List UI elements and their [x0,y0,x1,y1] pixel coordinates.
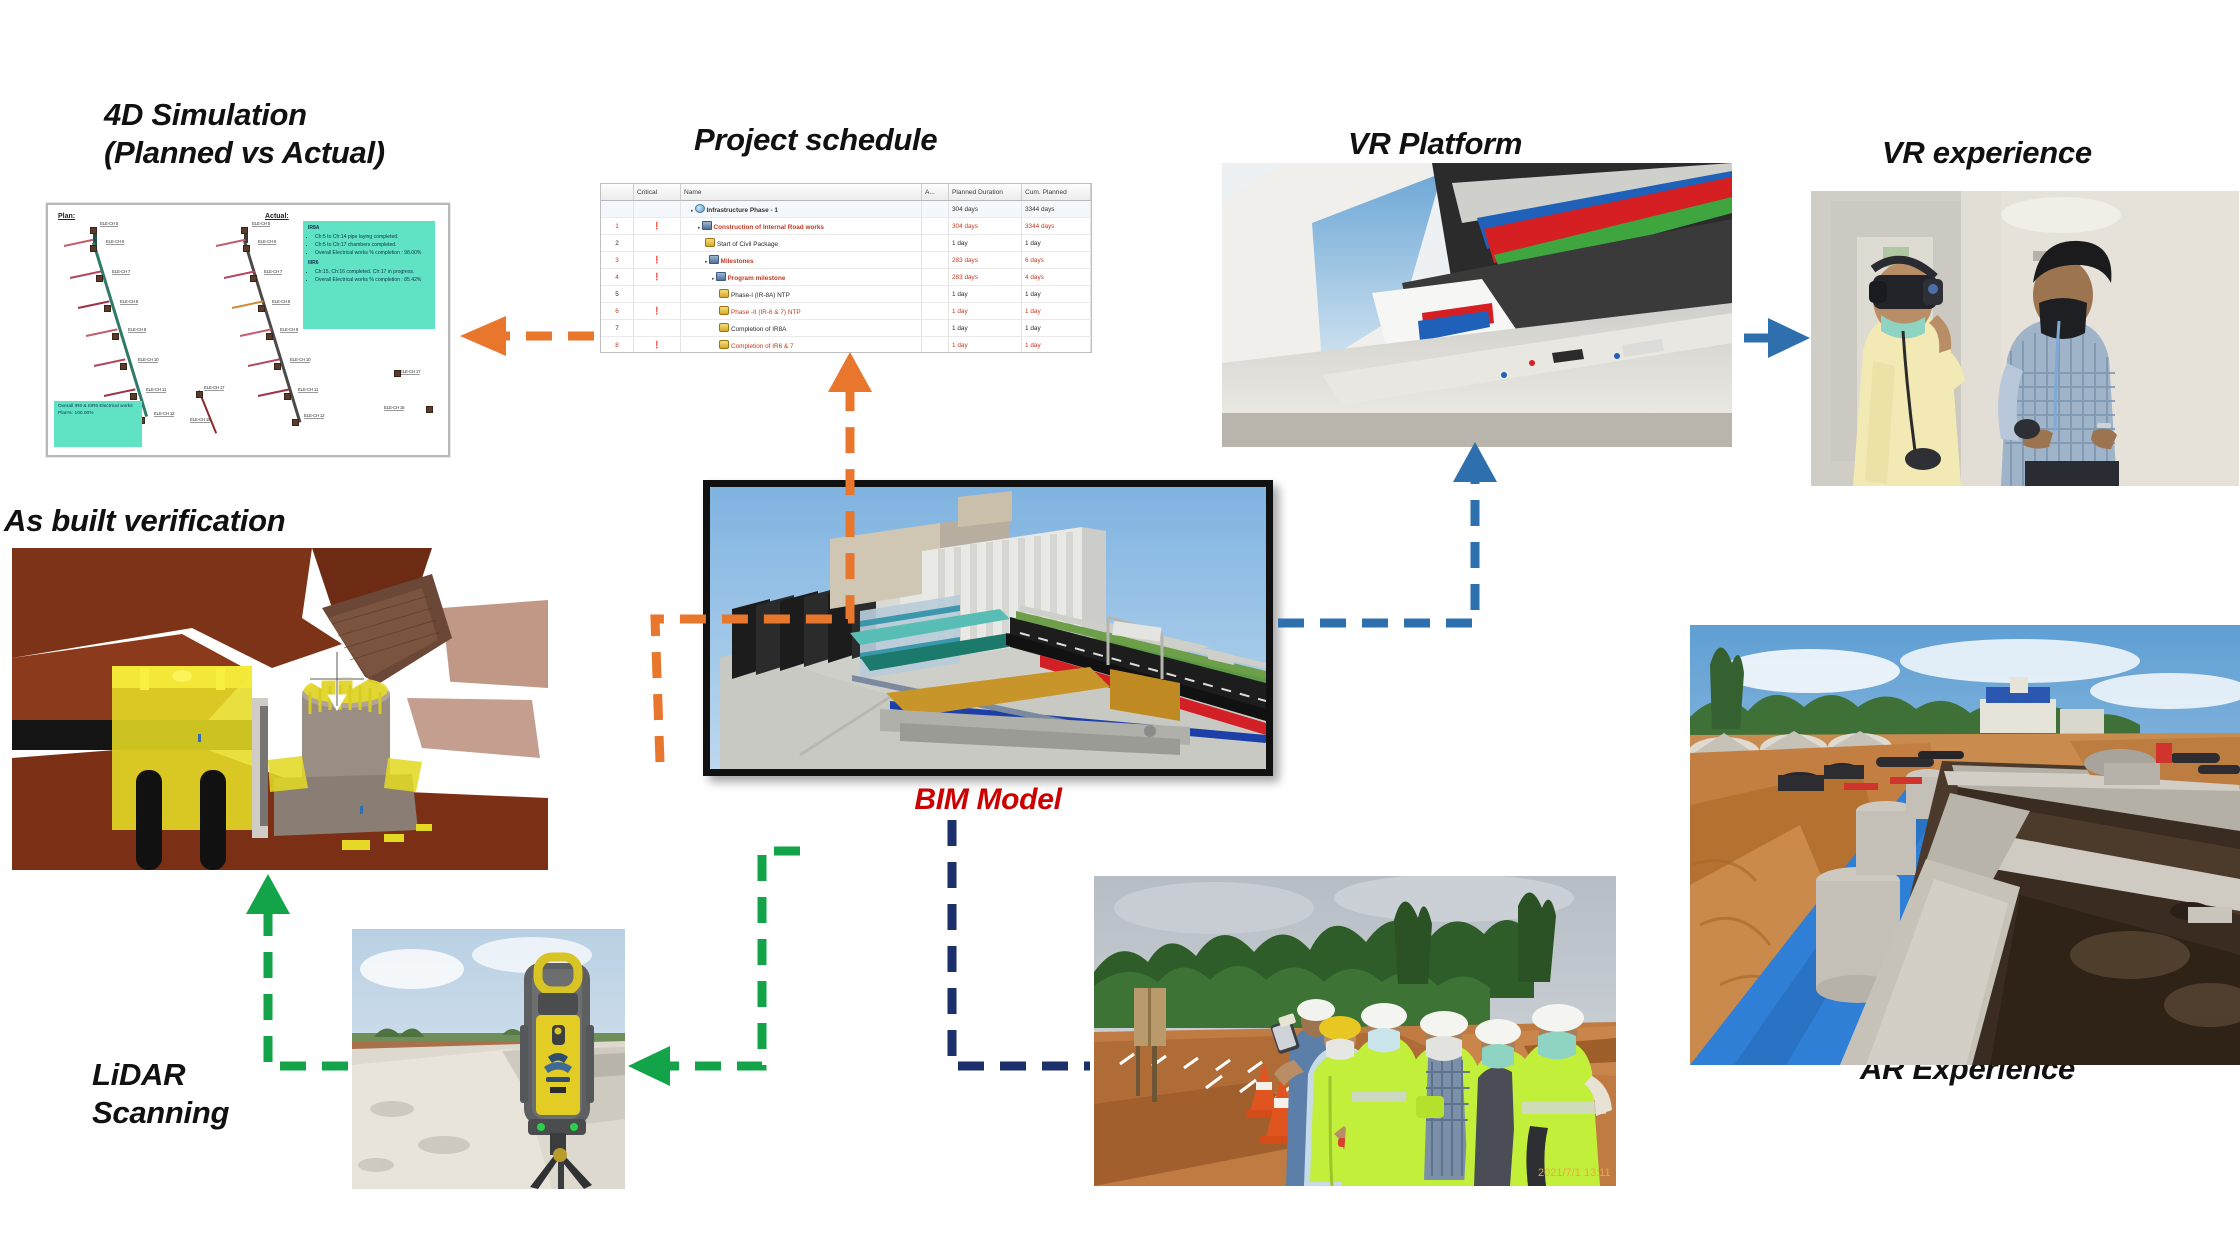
schedule-table: Critical Name A... Planned Duration Cum.… [601,184,1091,353]
four-d-simulation-panel[interactable]: Plan: Actual: ELE-CH 5 ELE-CH 6 ELE-CH 7… [46,203,450,457]
summary-task-icon [709,255,719,264]
schedule-row-planned-duration: 1 day [949,337,1022,354]
milestone-icon [719,323,729,332]
summary-task-icon [702,221,712,230]
four-d-overall-callout: Overall IR6 & IIIR6 Electrical works Pla… [54,401,142,447]
schedule-row-a [922,269,949,286]
task-name: Completion of IR8A [731,326,786,333]
callout-s1-item-1: Ch:5 to Ch:17 chambers completed. [315,242,430,250]
expand-triangle-icon[interactable]: ▸ [705,259,708,265]
schedule-row[interactable]: 5Phase-I (IR-8A) NTP1 day1 day [601,286,1091,303]
arrow-bim-to-lidar [628,851,800,1086]
expand-triangle-icon[interactable]: ▸ [712,276,715,282]
label-lidar-scanning: LiDAR Scanning [92,1056,229,1132]
summary-task-icon [716,272,726,281]
vr-platform-render [1222,163,1732,447]
schedule-row-name: Phase-I (IR-8A) NTP [681,286,922,303]
label-as-built-verification: As built verification [4,502,285,540]
schedule-row[interactable]: 2Start of Civil Package1 day1 day [601,235,1091,252]
arrow-schedule-to-4d [460,316,594,356]
schedule-row[interactable]: ▸Infrastructure Phase - 1304 days3344 da… [601,201,1091,218]
schedule-row-a [922,286,949,303]
task-name: Infrastructure Phase - 1 [707,207,778,214]
col-cum-planned[interactable]: Cum. Planned [1022,184,1091,201]
task-name: Program milestone [728,275,786,282]
schedule-row-name: Start of Civil Package [681,235,922,252]
schedule-row-planned-duration: 1 day [949,235,1022,252]
callout-section-1-title: IR8A [308,225,430,233]
schedule-row[interactable]: 6❗Phase -II (IR-6 & 7) NTP1 day1 day [601,303,1091,320]
task-name: Completion of IR6 & 7 [731,343,794,350]
diagram-canvas: 4D Simulation (Planned vs Actual) Projec… [0,0,2240,1260]
schedule-row-a [922,303,949,320]
schedule-row-cum-planned: 3344 days [1022,201,1091,218]
schedule-row[interactable]: 3❗▸Milestones283 days6 days [601,252,1091,269]
schedule-row-a [922,320,949,337]
as-built-pointcloud [12,548,548,870]
four-d-plan-header: Plan: [58,213,75,220]
schedule-row-name: Completion of IR8A [681,320,922,337]
schedule-row-critical [634,201,681,218]
ar-site-team-photo: 2021/7/1 13:11 [1094,876,1616,1186]
label-4d-simulation: 4D Simulation (Planned vs Actual) [104,96,385,172]
callout-s2-item-0: Ch:15, Ch:16 completed. Ch:17 in progres… [315,269,430,277]
schedule-row[interactable]: 8❗Completion of IR6 & 71 day1 day [601,337,1091,354]
schedule-row-cum-planned: 1 day [1022,286,1091,303]
schedule-row-planned-duration: 304 days [949,201,1022,218]
col-a[interactable]: A... [922,184,949,201]
label-bim-model: BIM Model [903,782,1073,819]
schedule-row-cum-planned: 4 days [1022,269,1091,286]
schedule-row[interactable]: 4❗▸Program milestone283 days4 days [601,269,1091,286]
schedule-row-critical [634,320,681,337]
schedule-row-a [922,252,949,269]
bim-model-render [710,487,1266,769]
schedule-row-id: 2 [601,235,634,252]
col-id[interactable] [601,184,634,201]
schedule-row-cum-planned: 1 day [1022,320,1091,337]
expand-triangle-icon[interactable]: ▸ [691,208,694,214]
schedule-body: ▸Infrastructure Phase - 1304 days3344 da… [601,201,1091,354]
bim-model-image[interactable] [703,480,1273,776]
schedule-row-id: 7 [601,320,634,337]
schedule-row-planned-duration: 1 day [949,320,1022,337]
four-d-actual-header: Actual: [265,213,289,220]
col-critical[interactable]: Critical [634,184,681,201]
schedule-row-id: 4 [601,269,634,286]
schedule-row-a [922,201,949,218]
schedule-row-id: 5 [601,286,634,303]
as-built-verification-image[interactable] [12,548,548,870]
task-name: Phase-I (IR-8A) NTP [731,292,790,299]
label-project-schedule: Project schedule [694,121,937,159]
schedule-row-a [922,337,949,354]
ar-trench-image[interactable] [1690,625,2240,1065]
callout-s1-item-2: Overall Electrical works % completion : … [315,250,430,258]
schedule-row-critical [634,286,681,303]
milestone-icon [719,340,729,349]
four-d-callout-box: IR8A Ch:5 to Ch:14 pipe laying completed… [303,221,435,329]
task-name: Start of Civil Package [717,241,778,248]
arrow-vr-platform-to-vr-experience [1744,318,1810,358]
project-schedule-table[interactable]: Critical Name A... Planned Duration Cum.… [600,183,1092,353]
schedule-row-name: ▸Program milestone [681,269,922,286]
callout-section-2-title: IIIR6 [308,260,430,268]
milestone-icon [719,306,729,315]
callout-s1-item-0: Ch:5 to Ch:14 pipe laying completed. [315,234,430,242]
schedule-row-planned-duration: 283 days [949,252,1022,269]
schedule-row-critical: ❗ [634,303,681,320]
schedule-row-planned-duration: 283 days [949,269,1022,286]
schedule-row-id: 3 [601,252,634,269]
schedule-header-row: Critical Name A... Planned Duration Cum.… [601,184,1091,201]
schedule-row-id: 8 [601,337,634,354]
arrow-bim-to-ar [952,820,1090,1066]
col-planned-duration[interactable]: Planned Duration [949,184,1022,201]
photo-timestamp: 2021/7/1 13:11 [1538,1167,1611,1179]
schedule-row-cum-planned: 1 day [1022,235,1091,252]
task-name: Phase -II (IR-6 & 7) NTP [731,309,801,316]
schedule-row-id: 1 [601,218,634,235]
lidar-scanner-image[interactable] [352,929,625,1189]
schedule-row-name: Phase -II (IR-6 & 7) NTP [681,303,922,320]
schedule-row-planned-duration: 1 day [949,286,1022,303]
col-name[interactable]: Name [681,184,922,201]
ar-trench-photo [1690,625,2240,1065]
schedule-row-cum-planned: 6 days [1022,252,1091,269]
task-name: Milestones [721,258,754,265]
ar-site-team-image[interactable]: 2021/7/1 13:11 [1094,876,1616,1186]
schedule-row-critical: ❗ [634,269,681,286]
arrow-bim-to-vr-platform [1278,442,1497,623]
schedule-row-critical: ❗ [634,337,681,354]
schedule-row-critical: ❗ [634,252,681,269]
site-team-group [1270,999,1612,1186]
schedule-row-planned-duration: 304 days [949,218,1022,235]
schedule-row-id: 6 [601,303,634,320]
arrow-lidar-to-as-built [246,874,348,1066]
label-vr-experience: VR experience [1882,134,2092,172]
label-vr-platform: VR Platform [1348,125,1522,163]
callout-s2-item-1: Overall Electrical works % completion : … [315,277,430,285]
schedule-row-name: Completion of IR6 & 7 [681,337,922,354]
schedule-row-id [601,201,634,218]
schedule-row-a [922,218,949,235]
schedule-row-name: ▸Construction of Internal Road works [681,218,922,235]
vr-experience-image[interactable] [1811,191,2239,486]
schedule-row-cum-planned: 1 day [1022,337,1091,354]
milestone-icon [705,238,715,247]
schedule-row-planned-duration: 1 day [949,303,1022,320]
schedule-row-critical [634,235,681,252]
schedule-row-name: ▸Milestones [681,252,922,269]
schedule-row-a [922,235,949,252]
project-globe-icon [695,204,705,213]
milestone-icon [719,289,729,298]
schedule-row-cum-planned: 3344 days [1022,218,1091,235]
vr-platform-image[interactable] [1222,163,1732,447]
expand-triangle-icon[interactable]: ▸ [698,225,701,231]
schedule-row-critical: ❗ [634,218,681,235]
schedule-row-name: ▸Infrastructure Phase - 1 [681,201,922,218]
vr-experience-photo [1811,191,2239,486]
schedule-row-cum-planned: 1 day [1022,303,1091,320]
schedule-row[interactable]: 1❗▸Construction of Internal Road works30… [601,218,1091,235]
lidar-scanner-photo [352,929,625,1189]
schedule-row[interactable]: 7Completion of IR8A1 day1 day [601,320,1091,337]
task-name: Construction of Internal Road works [714,224,824,231]
